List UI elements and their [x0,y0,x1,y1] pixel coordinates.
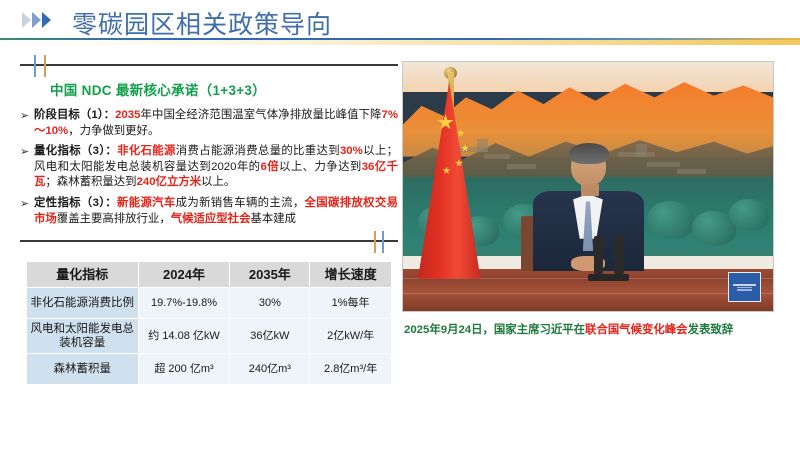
table-cell-r0c0: 非化石能源消费比例 [27,288,139,319]
bullet-arrow-icon: ➢ [20,196,34,213]
bullet-2-seg-0: 量化指标（3）： [34,145,117,157]
table-cell-r2c0: 森林蓄积量 [27,354,139,385]
desk-edge-highlight [403,293,773,294]
bullet-text-1: 阶段目标（1）：2035年中国全经济范围温室气体净排放量比峰值下降7%～10%，… [34,108,398,139]
table-cell-r2c3: 2.8亿m³/年 [310,354,392,385]
table-cell-r0c1: 19.7%-19.8% [138,288,230,319]
table-cell-r2c2: 240亿m³ [230,354,310,385]
bullet-3-seg-4: 覆盖主要高排放行业， [57,213,171,225]
caption-suffix: 发表致辞 [688,324,734,336]
bullet-2-seg-3: 30% [340,145,363,157]
slide-header: 零碳园区相关政策导向 [0,0,800,40]
table-row: 森林蓄积量 超 200 亿m³ 240亿m³ 2.8亿m³/年 [27,354,392,385]
person-hair [569,143,610,164]
bullet-text-2: 量化指标（3）：非化石能源消费占能源消费总量的比重达到30%以上；风电和太阳能发… [34,144,398,191]
table-header-cell-2: 2035年 [230,262,310,288]
bullet-2-seg-8: ；森林蓄积量达到 [45,176,136,188]
table-cell-r1c1: 约 14.08 亿kW [138,319,230,354]
bullet-3-seg-2: 成为新销售车辆的主流， [176,197,305,209]
chevron-group [22,12,51,28]
bullet-1-seg-4: ，力争做到更好。 [68,125,159,137]
great-wall-tower [636,144,647,156]
bullet-3-seg-1: 新能源汽车 [117,197,176,209]
caption-highlight: 联合国气候变化峰会 [585,324,688,336]
bullet-1-seg-0: 阶段目标（1）： [34,109,115,121]
bullet-list: ➢ 阶段目标（1）：2035年中国全经济范围温室气体净排放量比峰值下降7%～10… [20,108,398,227]
table-cell-r1c0: 风电和太阳能发电总装机容量 [27,319,139,354]
watermark-line [733,284,757,286]
section-tick-orange-bottom [374,231,376,253]
table-row: 风电和太阳能发电总装机容量 约 14.08 亿kW 36亿kW 2亿kW/年 [27,319,392,354]
list-item: ➢ 阶段目标（1）：2035年中国全经济范围温室气体净排放量比峰值下降7%～10… [20,108,398,139]
bullet-1-seg-1: 2035 [115,109,140,121]
header-divider-glow [0,40,800,45]
table-row: 非化石能源消费比例 19.7%-19.8% 30% 1%每年 [27,288,392,319]
microphone-left [594,236,604,273]
chevron-right-icon-2 [32,12,41,28]
table-cell-r0c3: 1%每年 [310,288,392,319]
table-cell-r1c3: 2亿kW/年 [310,319,392,354]
table-header-cell-0: 量化指标 [27,262,139,288]
bullet-2-seg-2: 消费占能源消费总量的比重达到 [176,145,340,157]
list-item: ➢ 量化指标（3）：非化石能源消费占能源消费总量的比重达到30%以上；风电和太阳… [20,144,398,191]
quantitative-indicators-table: 量化指标 2024年 2035年 增长速度 非化石能源消费比例 19.7%-19… [26,261,392,385]
great-wall-segment [507,164,537,169]
header-divider [0,38,800,47]
list-item: ➢ 定性指标（3）：新能源汽车成为新销售车辆的主流，全国碳排放权交易市场覆盖主要… [20,196,398,227]
watermark-line [737,289,753,291]
section-tick-orange-top [44,55,46,77]
bullet-arrow-icon: ➢ [20,108,34,125]
table-header-cell-1: 2024年 [138,262,230,288]
table-header-row: 量化指标 2024年 2035年 增长速度 [27,262,392,288]
bullet-2-seg-5: 6倍 [260,161,279,173]
great-wall-segment [677,169,707,174]
bullet-1-seg-2: 年中国全经济范围温室气体净排放量比峰值下降 [140,109,381,121]
section-rule-bottom-line [20,240,398,242]
section-tick-blue-bottom [382,231,384,253]
photo-caption: 2025年9月24日，国家主席习近平在联合国气候变化峰会发表致辞 [404,322,776,338]
caption-prefix: 2025年9月24日，国家主席习近平在 [404,324,585,336]
page-title: 零碳园区相关政策导向 [72,5,332,41]
great-wall-segment [647,162,680,167]
slide-root: 零碳园区相关政策导向 中国 NDC 最新核心承诺（1+3+3） ➢ 阶段目标（1… [0,0,800,450]
great-wall-segment [484,154,510,159]
table-header-cell-3: 增长速度 [310,262,392,288]
chevron-right-icon-1 [22,12,31,28]
section-heading: 中国 NDC 最新核心承诺（1+3+3） [50,79,398,99]
great-wall-tower [477,139,488,151]
section-rule-top [20,55,398,77]
section-tick-blue-top [34,55,36,77]
left-content-column: 中国 NDC 最新核心承诺（1+3+3） ➢ 阶段目标（1）：2035年中国全经… [20,55,398,395]
watermark-line [737,287,753,289]
bullet-3-seg-0: 定性指标（3）： [34,197,117,209]
section-rule-bottom [20,231,398,253]
mural-sky [403,62,773,92]
bullet-text-3: 定性指标（3）：新能源汽车成为新销售车辆的主流，全国碳排放权交易市场覆盖主要高排… [34,196,398,227]
bullet-arrow-icon: ➢ [20,144,34,161]
news-agency-watermark [728,272,761,302]
photo-frame [402,61,774,312]
bullet-3-seg-6: 基本建成 [250,213,296,225]
bullet-2-seg-10: 以上。 [201,176,235,188]
mural-tree [647,201,695,238]
table-cell-r0c2: 30% [230,288,310,319]
bullet-2-seg-1: 非化石能源 [117,145,176,157]
bullet-2-seg-6: 以上、力争达到 [279,161,362,173]
speech-photo [403,62,773,311]
bullet-2-seg-9: 240亿立方米 [137,176,202,188]
table-cell-r1c2: 36亿kW [230,319,310,354]
bullet-3-seg-5: 气候适应型社会 [171,213,251,225]
microphone-right [614,236,624,273]
microphone-base [588,274,629,281]
chevron-right-icon-3 [42,12,51,28]
section-rule-top-line [20,64,398,66]
table-cell-r2c1: 超 200 亿m³ [138,354,230,385]
